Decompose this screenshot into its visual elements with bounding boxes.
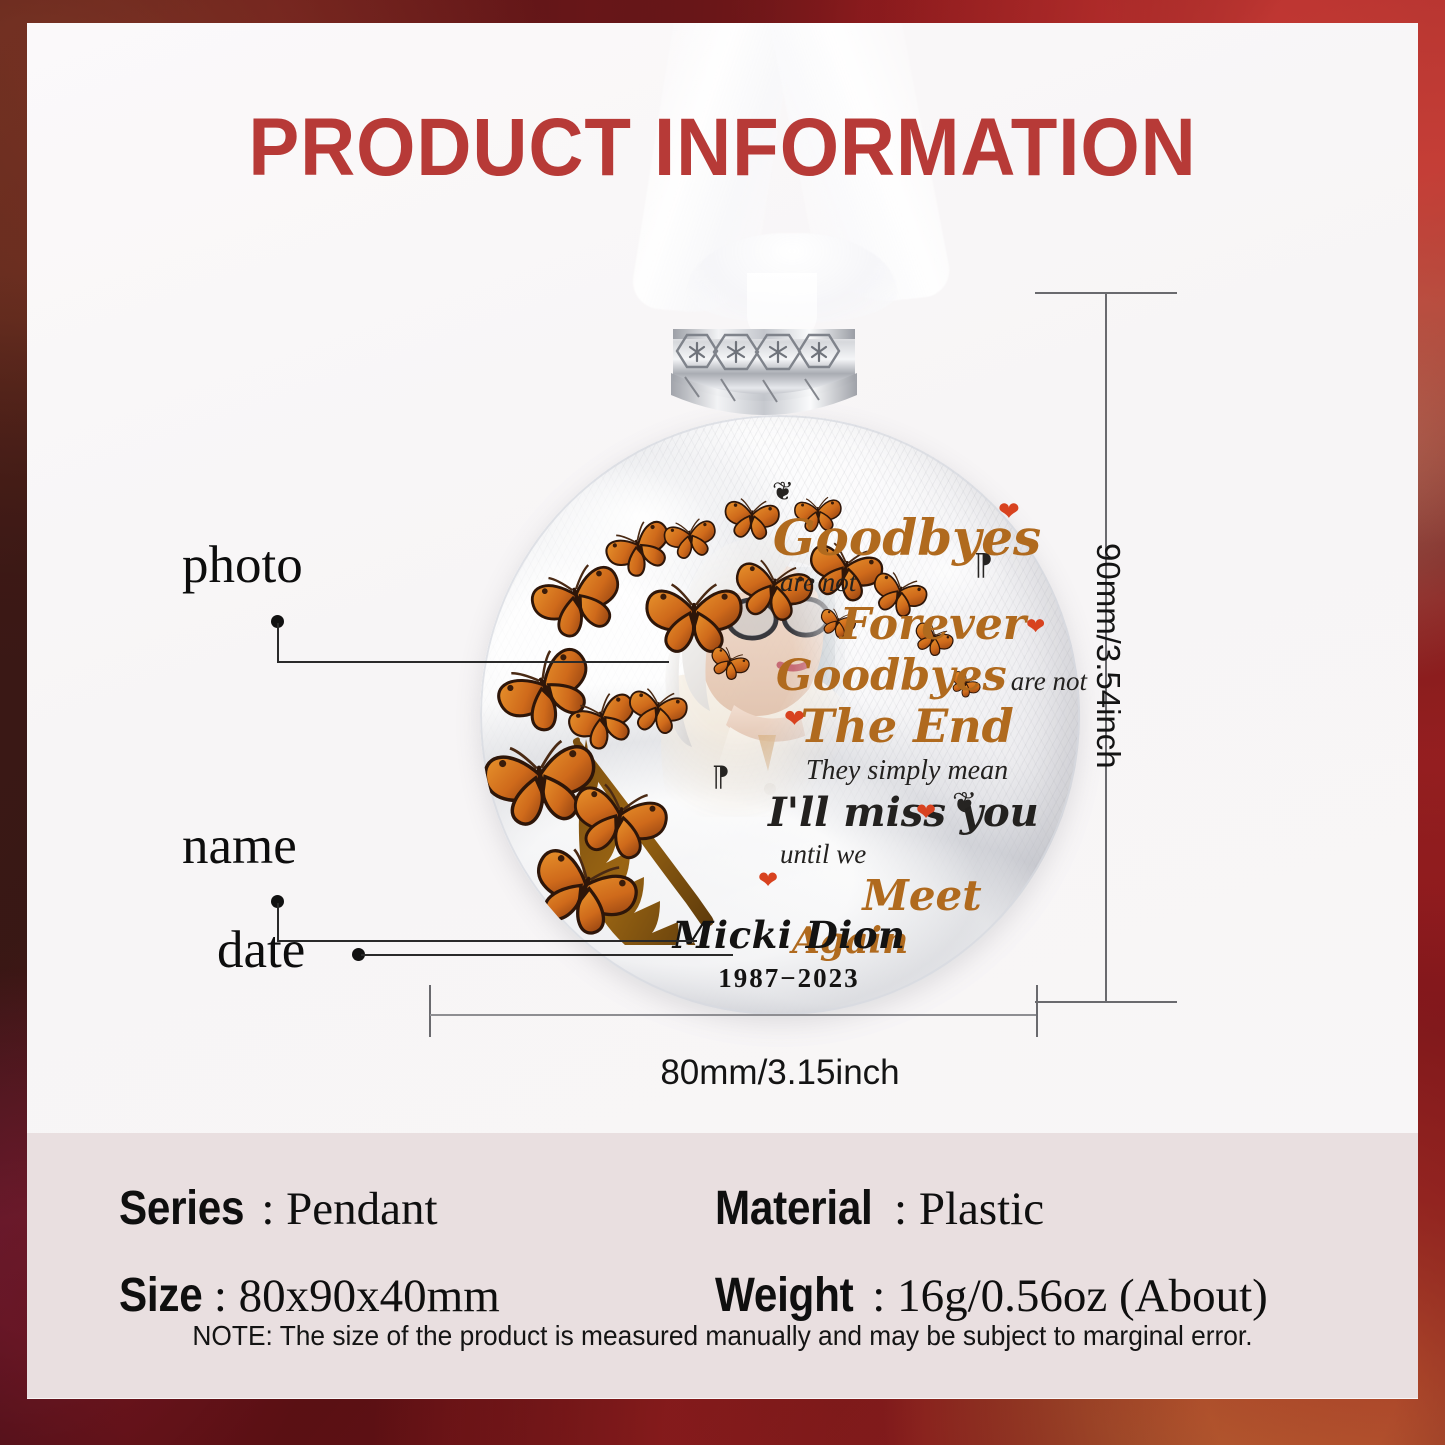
dimension-line-horizontal — [430, 1014, 1038, 1016]
product-info-card: PRODUCT INFORMATION — [27, 23, 1418, 1399]
spec-series-sep: : — [261, 1183, 286, 1235]
ornament-poem: Goodbyes ❤ ❦ are not ⁋ Forever ❤ Goodbye… — [762, 513, 1052, 969]
leader-line-date-horizontal — [361, 954, 733, 956]
poem-line-4: Goodbyes — [776, 651, 1007, 701]
annotation-label-photo: photo — [182, 535, 303, 595]
annotation-label-name: name — [182, 816, 297, 876]
dimension-label-width: 80mm/3.15inch — [615, 1053, 945, 1093]
spec-material: Material: Plastic — [715, 1181, 1044, 1236]
spec-size-label: Size — [119, 1268, 202, 1323]
spec-weight-value: 16g/0.56oz (About) — [897, 1270, 1268, 1322]
poem-line-8: I'll miss you — [768, 789, 1039, 836]
dimension-label-height: 90mm/3.54inch — [1089, 543, 1127, 769]
swirl-flourish-icon: ❦ — [772, 479, 794, 505]
heart-icon: ❤ — [1026, 615, 1045, 638]
annotation-label-date: date — [217, 920, 305, 980]
poem-line-3: Forever — [840, 599, 1026, 650]
swirl-flourish-icon: ❦ — [952, 789, 977, 819]
poem-line-2: are not — [780, 567, 856, 597]
spec-size-value: 80x90x40mm — [239, 1270, 500, 1322]
dimension-tick-right — [1036, 985, 1038, 1037]
spec-series-value: Pendant — [286, 1183, 437, 1235]
page-title: PRODUCT INFORMATION — [76, 101, 1370, 195]
measurement-note: NOTE: The size of the product is measure… — [69, 1320, 1377, 1352]
leader-line-photo-horizontal — [277, 661, 669, 663]
leader-line-name-horizontal — [277, 940, 697, 942]
heart-icon: ❤ — [998, 499, 1020, 525]
ornament-cap — [659, 315, 869, 423]
spec-weight-sep: : — [872, 1270, 897, 1322]
swirl-flourish-icon: ⁋ — [712, 763, 730, 791]
deceased-dates: 1987−2023 — [639, 963, 939, 994]
spec-material-sep: : — [894, 1183, 919, 1235]
heart-icon: ❤ — [784, 707, 805, 732]
heart-icon: ❤ — [758, 869, 778, 893]
poem-line-9: until we — [780, 839, 866, 869]
deceased-name: Micki Dion — [639, 913, 939, 957]
poem-line-7: They simply mean — [806, 755, 1008, 786]
swirl-flourish-icon: ⁋ — [974, 551, 993, 581]
spec-material-value: Plastic — [919, 1183, 1044, 1235]
spec-material-label: Material — [715, 1181, 873, 1236]
leader-line-photo-vertical — [277, 623, 279, 662]
specifications-panel: Series: Pendant Material: Plastic Size: … — [27, 1133, 1418, 1398]
spec-weight: Weight: 16g/0.56oz (About) — [715, 1268, 1268, 1323]
heart-icon: ❤ — [916, 801, 936, 825]
spec-weight-label: Weight — [715, 1268, 853, 1323]
dimension-tick-bottom — [1035, 1001, 1177, 1003]
spec-size-sep: : — [214, 1270, 239, 1322]
ribbon-knot — [687, 233, 897, 323]
poem-line-5: are not — [1011, 666, 1087, 696]
spec-series: Series: Pendant — [119, 1181, 438, 1236]
dimension-tick-left — [429, 985, 431, 1037]
spec-size: Size: 80x90x40mm — [119, 1268, 500, 1323]
poem-line-6: The End — [800, 699, 1014, 753]
spec-series-label: Series — [119, 1181, 244, 1236]
